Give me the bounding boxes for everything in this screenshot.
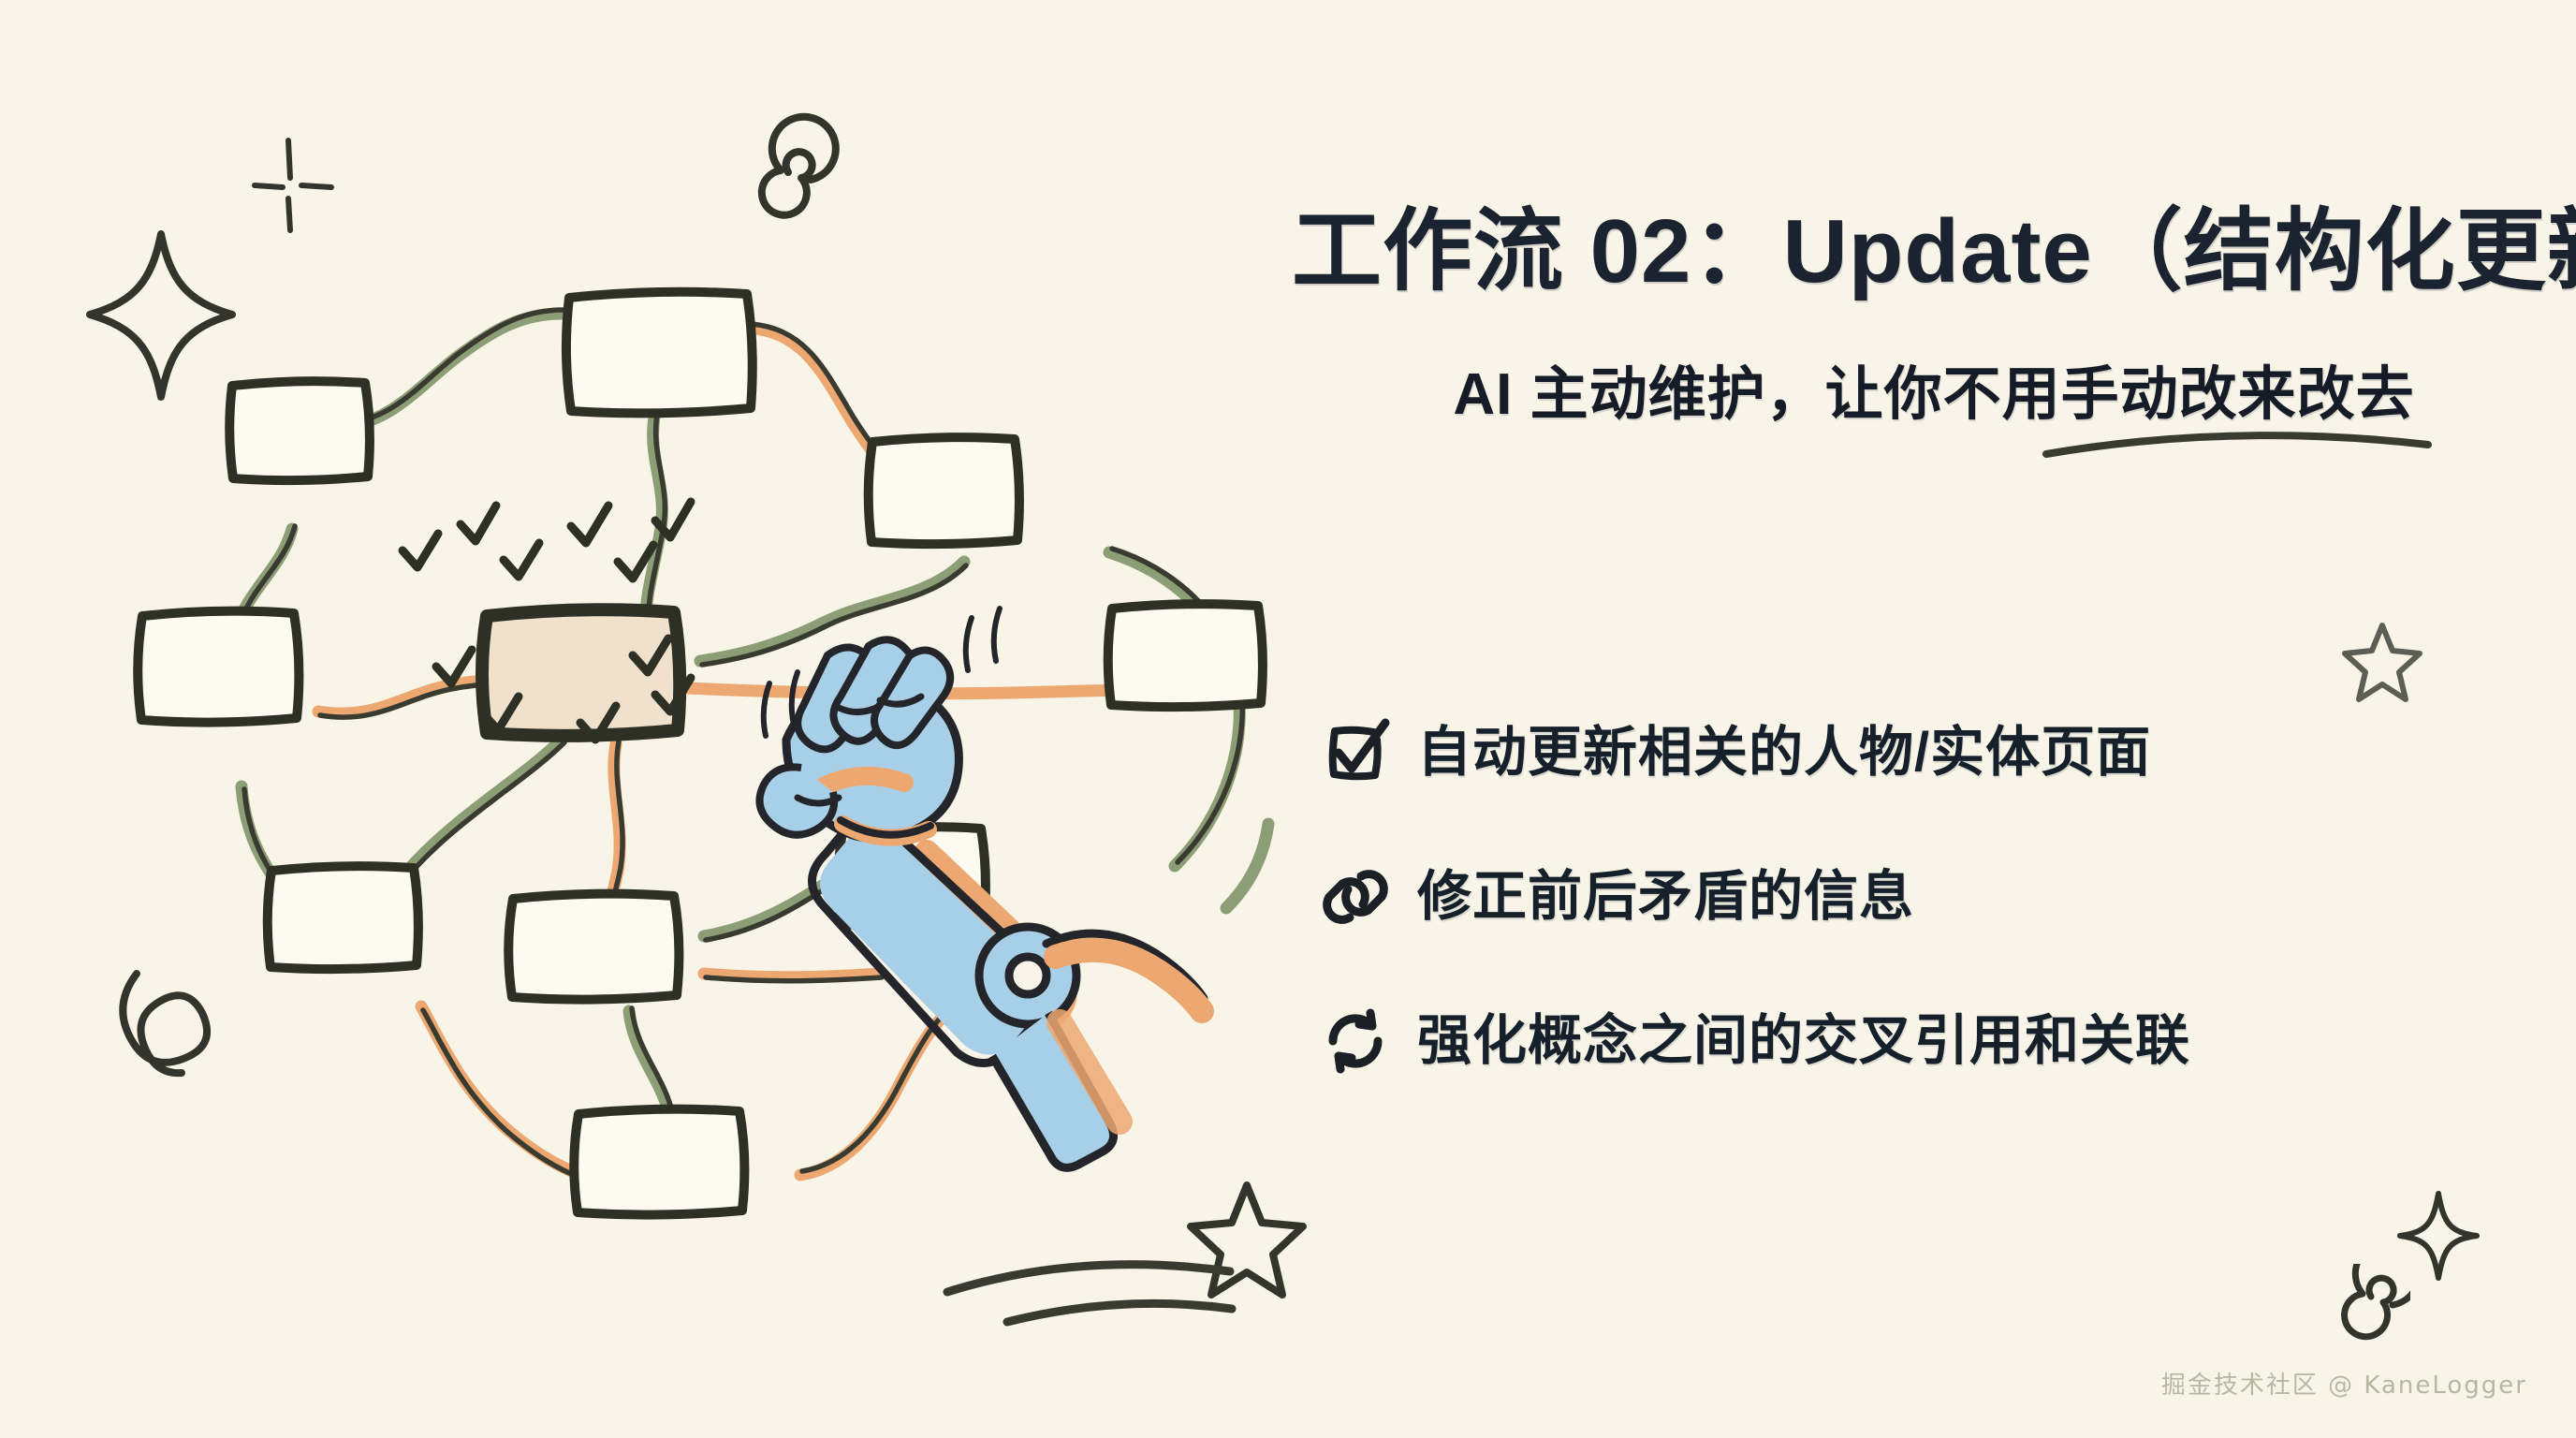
list-item[interactable]: 修正前后矛盾的信息 xyxy=(1320,842,2565,952)
graph-node xyxy=(1108,604,1263,707)
graph-node xyxy=(268,866,418,969)
graph-node xyxy=(138,611,299,723)
list-item-label: 自动更新相关的人物/实体页面 xyxy=(1417,723,2151,783)
graph-node xyxy=(566,292,753,414)
list-item-label: 强化概念之间的交叉引用和关联 xyxy=(1417,1011,2190,1071)
illustration-svg: .ink { stroke:#2E3026; fill:none; stroke… xyxy=(0,0,1310,1438)
content-column: 工作流 02：Update（结构化更新） AI 主动维护，让你不用手动改来改去 … xyxy=(1292,0,2576,1438)
page-title-wrap: 工作流 02：Update（结构化更新） xyxy=(1292,201,2576,302)
graph-node xyxy=(869,437,1019,544)
feature-bullet-list: 自动更新相关的人物/实体页面 修正前后矛盾的信息 xyxy=(1320,697,2565,1130)
page-subtitle: AI 主动维护，让你不用手动改来改去 xyxy=(1292,346,2576,431)
list-item[interactable]: 自动更新相关的人物/实体页面 xyxy=(1320,697,2565,808)
link-chain-icon xyxy=(1320,861,1391,932)
spiral-icon xyxy=(762,117,836,215)
slide-canvas: .ink { stroke:#2E3026; fill:none; stroke… xyxy=(0,0,2576,1438)
list-item[interactable]: 强化概念之间的交叉引用和关联 xyxy=(1320,986,2565,1096)
knowledge-graph-illustration: .ink { stroke:#2E3026; fill:none; stroke… xyxy=(0,0,1310,1438)
graph-node xyxy=(574,1109,744,1215)
page-subtitle-wrap: AI 主动维护，让你不用手动改来改去 xyxy=(1292,346,2576,431)
graph-node xyxy=(508,894,679,1000)
small-sparkle-icon xyxy=(255,140,331,230)
graph-node xyxy=(229,381,370,480)
checkbox-check-icon xyxy=(1320,717,1391,788)
page-title: 工作流 02：Update（结构化更新） xyxy=(1292,201,2576,302)
watermark: 掘金技术社区 @ KaneLogger xyxy=(2161,1366,2527,1401)
sparkle-4point-icon xyxy=(90,234,232,397)
curl-icon xyxy=(123,974,207,1073)
refresh-sync-icon xyxy=(1320,1005,1391,1077)
sweep-lines xyxy=(947,1265,1232,1322)
star-outline-icon xyxy=(1191,1185,1303,1295)
list-item-label: 修正前后矛盾的信息 xyxy=(1417,867,1914,927)
subtitle-underline-stroke xyxy=(2041,426,2434,463)
